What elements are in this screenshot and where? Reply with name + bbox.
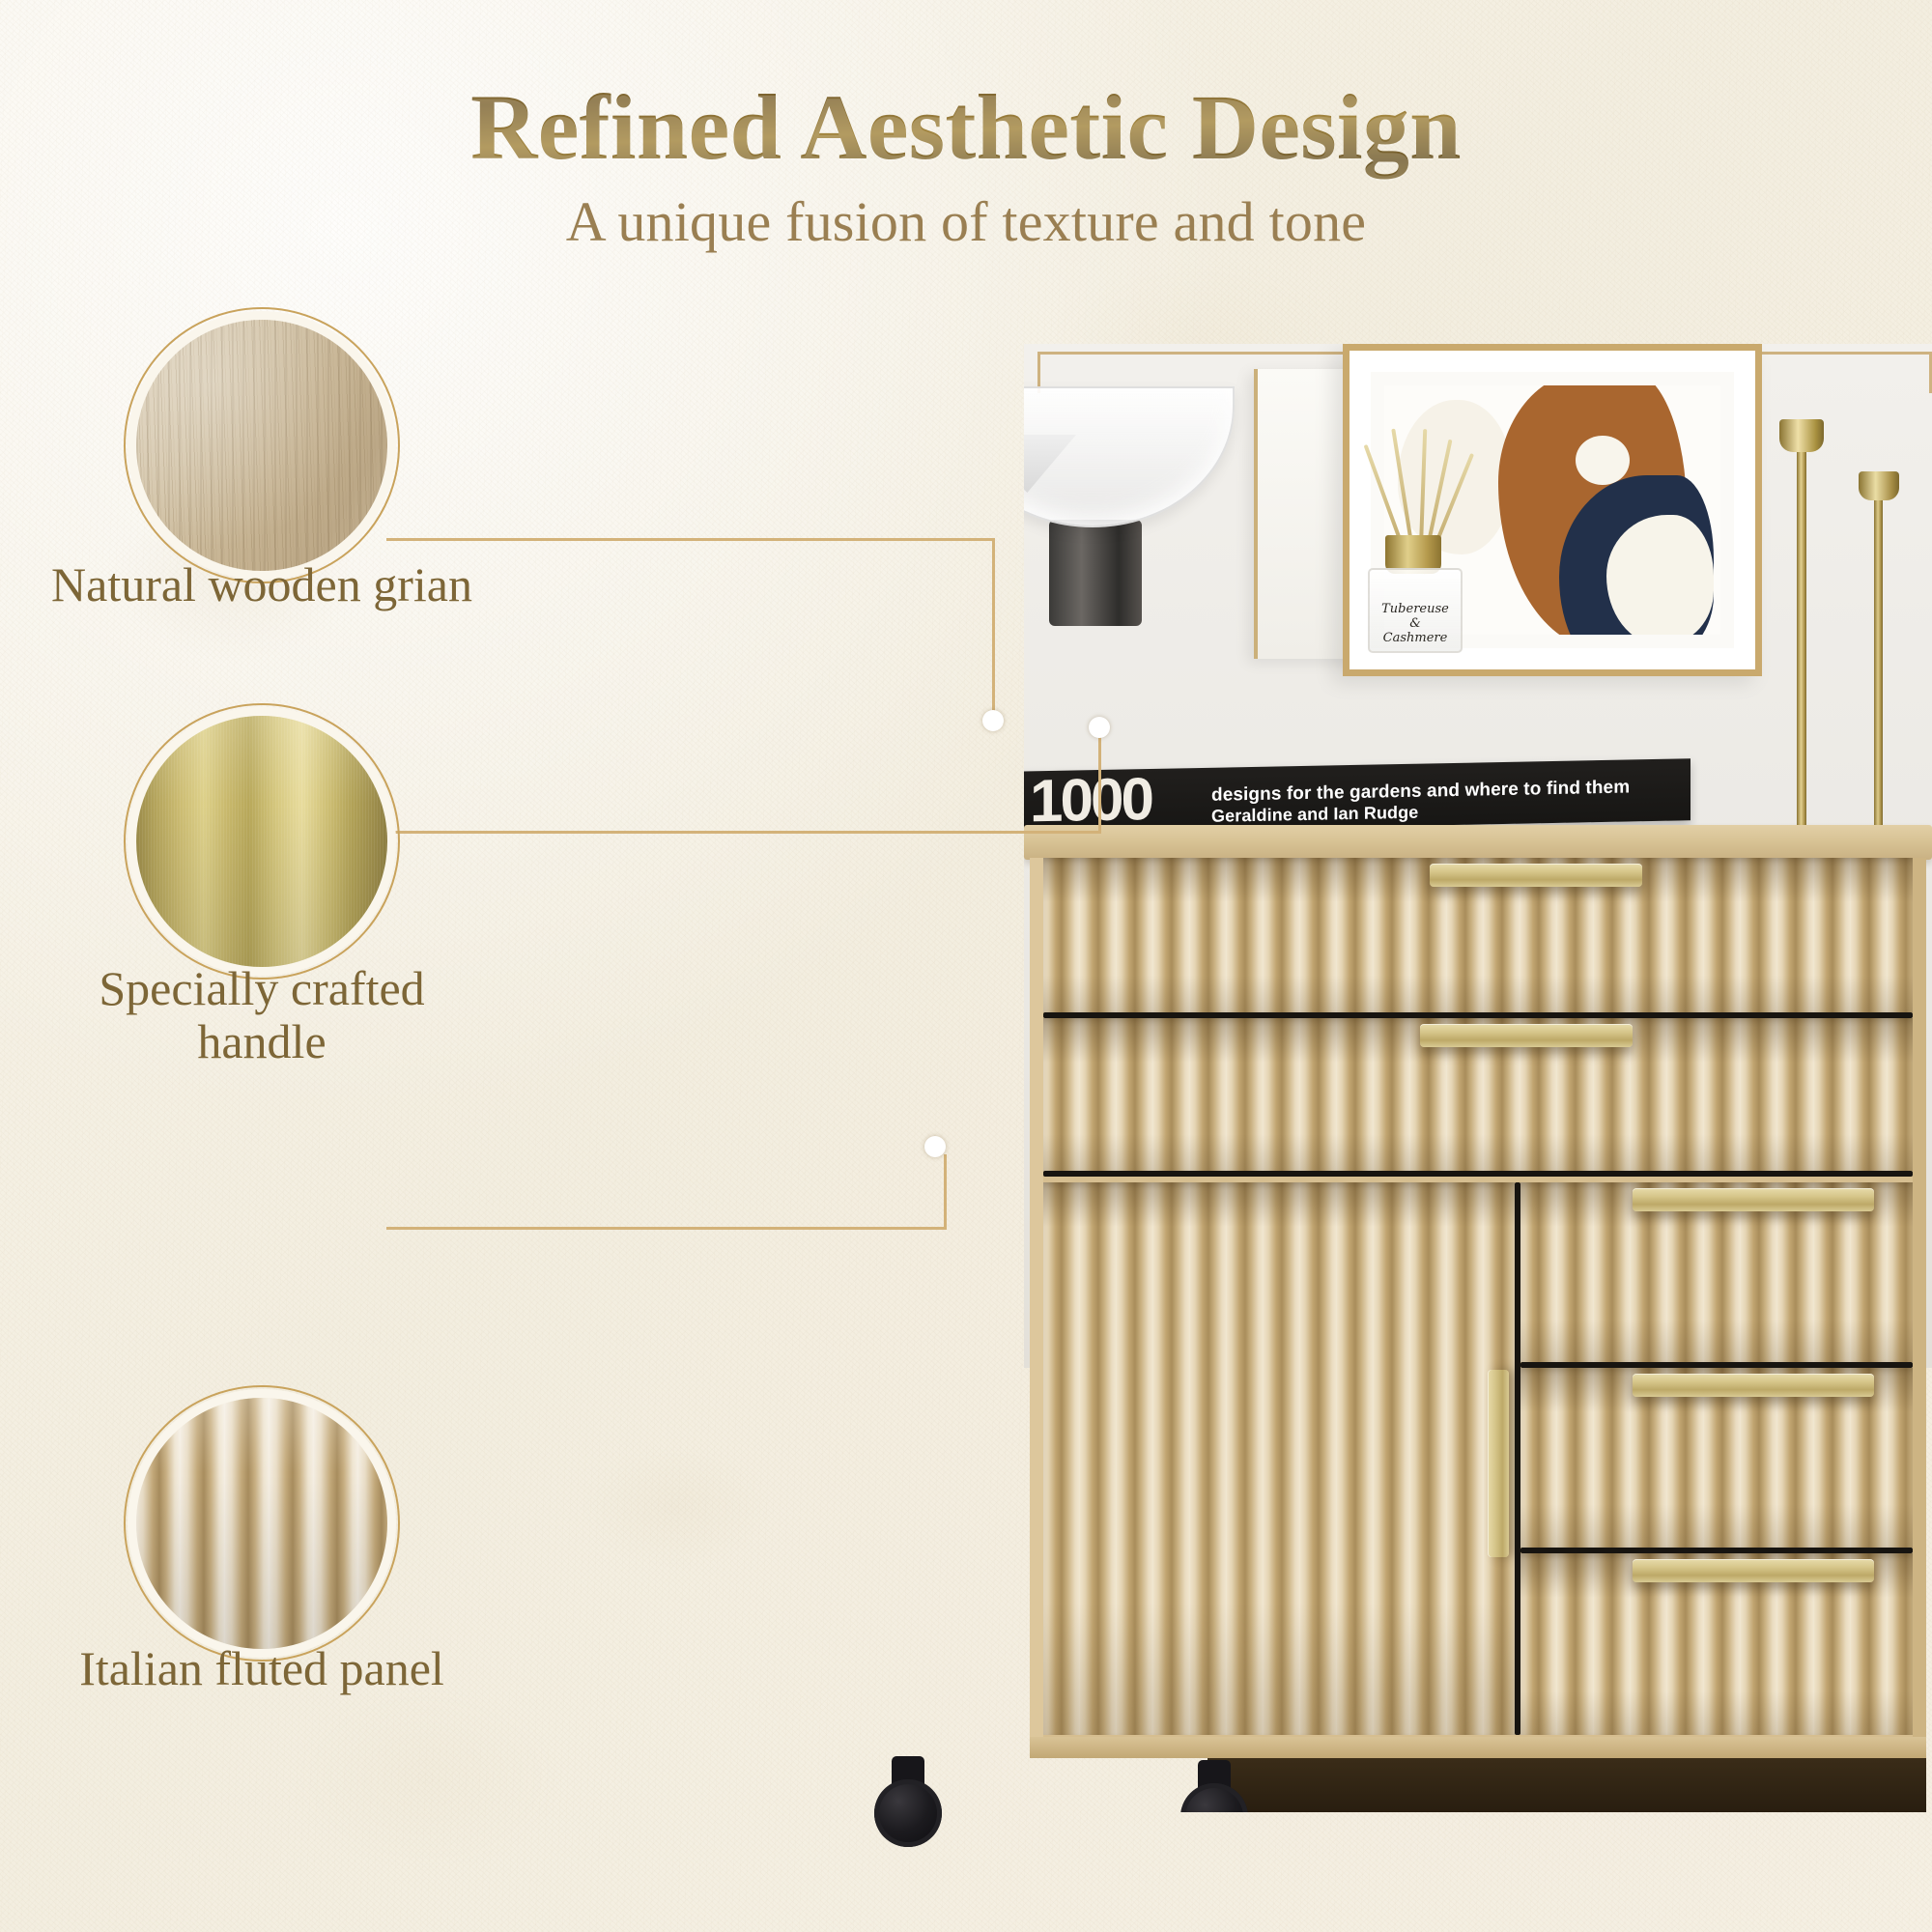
callout-3-line-horizontal xyxy=(386,1227,947,1230)
swatch-fill xyxy=(136,320,387,571)
lamp-base xyxy=(1049,520,1142,626)
callout-2-line-vertical xyxy=(1098,734,1101,833)
fluted-panel-texture xyxy=(136,1398,387,1649)
callout-3-marker-dot xyxy=(924,1136,946,1157)
cabinet-door-handle[interactable] xyxy=(1488,1370,1509,1557)
right-drawer-3-handle[interactable] xyxy=(1633,1559,1874,1582)
feature-swatch-wood-grain xyxy=(124,307,400,583)
callout-1-line-horizontal xyxy=(386,538,995,541)
feature-label-handle: Specially crafted handle xyxy=(40,962,484,1068)
second-drawer-handle[interactable] xyxy=(1420,1024,1633,1047)
swatch-fill xyxy=(136,1398,387,1649)
drawer-gap-2 xyxy=(1043,1171,1913,1177)
product-scene: Tubereuse & Cashmere 1000 designs for th… xyxy=(1024,344,1932,1812)
feature-label-wood-grain: Natural wooden grian xyxy=(40,558,484,611)
coffee-table-book: 1000 designs for the gardens and where t… xyxy=(1024,758,1690,833)
under-cabinet-shadow xyxy=(1207,1758,1926,1812)
brass-candlestick-stem xyxy=(1797,437,1806,891)
dresser-top-surface xyxy=(1024,825,1932,860)
dresser-body xyxy=(1030,858,1926,1737)
fluted-oak-sideboard xyxy=(1024,825,1932,1812)
feature-label-fluted-panel: Italian fluted panel xyxy=(40,1642,484,1695)
page-title: Refined Aesthetic Design xyxy=(0,73,1932,181)
callout-2-marker-dot xyxy=(1089,717,1110,738)
right-drawer-1-handle[interactable] xyxy=(1633,1188,1874,1211)
callout-2-line-horizontal xyxy=(386,831,1101,834)
wood-grain-texture xyxy=(136,320,387,571)
art-shape-cream-left xyxy=(1398,400,1512,554)
diffuser-label-line2: & Cashmere xyxy=(1383,616,1448,645)
brass-candlestick-back-stem xyxy=(1874,489,1883,875)
brass-candlestick-cup xyxy=(1779,419,1824,452)
book-authors: Geraldine and Ian Rudge xyxy=(1211,803,1418,827)
lamp-cone xyxy=(1024,435,1076,493)
diffuser-label-line1: Tubereuse xyxy=(1381,602,1449,616)
brushed-gold-texture xyxy=(136,716,387,967)
feature-swatch-brushed-gold xyxy=(124,703,400,980)
brass-candlestick-back-cup xyxy=(1859,471,1899,500)
infographic-canvas: Refined Aesthetic Design A unique fusion… xyxy=(0,0,1932,1932)
left-cabinet-door[interactable] xyxy=(1043,1182,1515,1735)
diffuser-label: Tubereuse & Cashmere xyxy=(1379,603,1451,646)
page-subtitle: A unique fusion of texture and tone xyxy=(0,189,1932,254)
top-drawer-handle[interactable] xyxy=(1430,864,1642,887)
callout-3-line-vertical xyxy=(944,1154,947,1230)
callout-1-line-vertical xyxy=(992,538,995,722)
swatch-fill xyxy=(136,716,387,967)
caster-wheel-disc xyxy=(874,1779,942,1847)
dresser-plinth xyxy=(1030,1737,1926,1758)
callout-1-marker-dot xyxy=(982,710,1004,731)
feature-swatch-fluted-panel xyxy=(124,1385,400,1662)
book-title: designs for the gardens and where to fin… xyxy=(1211,777,1630,806)
art-shape-cream-right xyxy=(1606,515,1714,635)
right-drawer-2-handle[interactable] xyxy=(1633,1374,1874,1397)
art-shape-oval xyxy=(1576,436,1630,486)
